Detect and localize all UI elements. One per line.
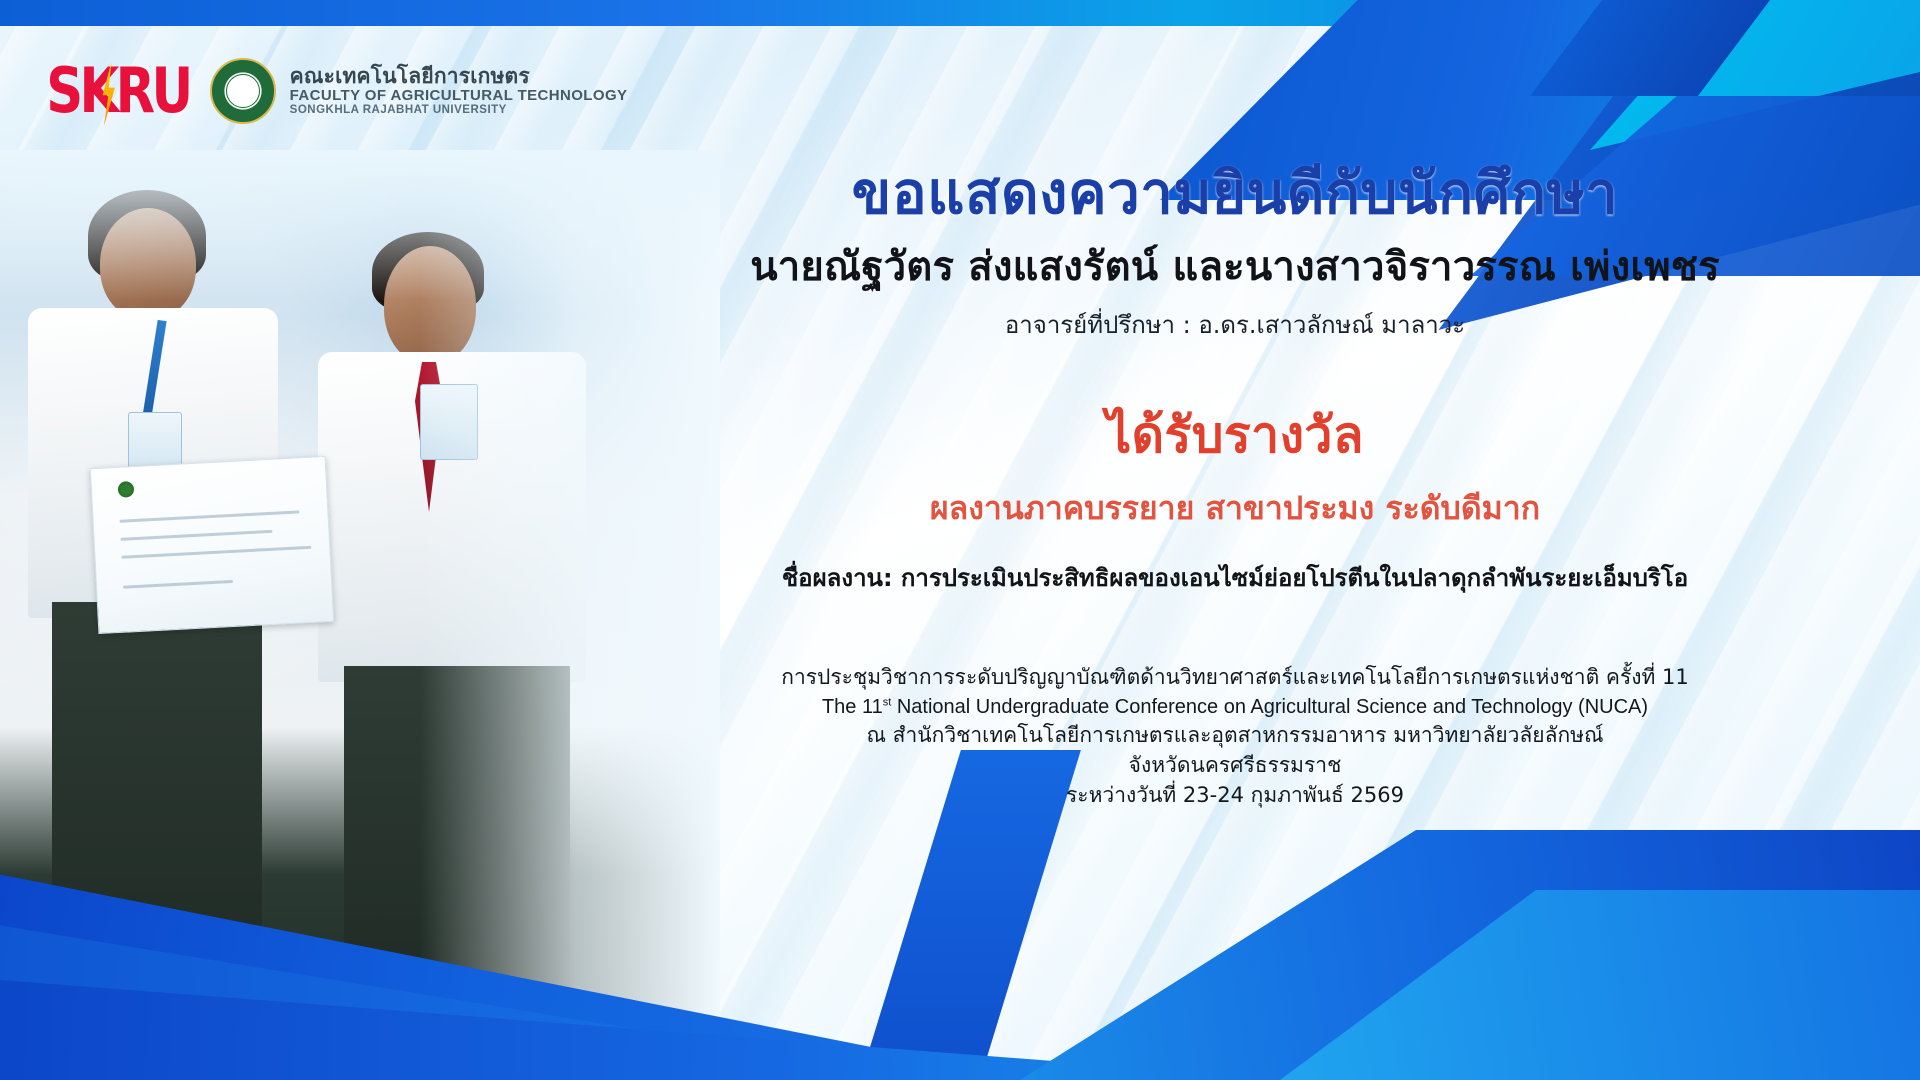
congratulations-banner: SKRU คณะเทคโนโลยีการเกษตร FACULTY OF AGR… bbox=[0, 0, 1920, 1080]
project-title: ชื่อผลงาน: การประเมินประสิทธิผลของเอนไซม… bbox=[620, 558, 1850, 597]
certificate-text-line bbox=[120, 510, 300, 522]
conference-info: การประชุมวิชาการระดับปริญญาบัณฑิตด้านวิท… bbox=[620, 663, 1850, 811]
award-ceremony-photo bbox=[0, 150, 720, 1080]
university-name-en: SONGKHLA RAJABHAT UNIVERSITY bbox=[290, 104, 628, 116]
top-blue-band bbox=[0, 0, 1920, 26]
top-right-shape-cyan bbox=[1590, 0, 1920, 150]
certificate-text-line bbox=[120, 530, 272, 541]
photo-top-fade bbox=[0, 150, 720, 300]
skru-wordmark-text: SKRU bbox=[46, 54, 189, 127]
conference-name-en: The 11st National Undergraduate Conferen… bbox=[620, 693, 1850, 721]
faculty-name-block: คณะเทคโนโลยีการเกษตร FACULTY OF AGRICULT… bbox=[290, 65, 628, 116]
conference-name-th: การประชุมวิชาการระดับปริญญาบัณฑิตด้านวิท… bbox=[620, 663, 1850, 693]
bottom-right-shape bbox=[1020, 830, 1920, 1080]
conference-province: จังหวัดนครศรีธรรมราช bbox=[620, 751, 1850, 781]
conference-venue: ณ สำนักวิชาเทคโนโลยีการเกษตรและอุตสาหกรร… bbox=[620, 721, 1850, 751]
bottom-right-shape-light bbox=[1280, 890, 1920, 1080]
conference-en-prefix: The 11 bbox=[822, 696, 883, 718]
award-detail: ผลงานภาคบรรยาย สาขาประมง ระดับดีมาก bbox=[620, 483, 1850, 534]
certificate-text-line bbox=[121, 546, 311, 559]
university-seal-icon bbox=[210, 58, 276, 124]
top-right-shape-accent bbox=[1530, 0, 1770, 96]
conference-ordinal-suffix: st bbox=[883, 696, 892, 708]
advisor-line: อาจารย์ที่ปรึกษา : อ.ดร.เสาวลักษณ์ มาลาว… bbox=[620, 305, 1850, 344]
student-names: นายณัฐวัตร ส่งแสงรัตน์ และนางสาวจิราวรรณ… bbox=[620, 243, 1850, 291]
photo-backdrop bbox=[0, 150, 720, 1080]
advisor-trousers bbox=[52, 602, 262, 1080]
conference-en-rest: National Undergraduate Conference on Agr… bbox=[891, 696, 1648, 718]
certificate-text-line bbox=[123, 580, 233, 589]
seal-inner-emblem bbox=[226, 74, 260, 108]
skru-wordmark: SKRU bbox=[46, 60, 189, 122]
faculty-name-th: คณะเทคโนโลยีการเกษตร bbox=[290, 65, 628, 88]
faculty-name-en: FACULTY OF AGRICULTURAL TECHNOLOGY bbox=[290, 88, 628, 104]
conference-date: ระหว่างวันที่ 23-24 กุมภาพันธ์ 2569 bbox=[620, 781, 1850, 811]
page-title: ขอแสดงความยินดีกับนักศึกษา bbox=[620, 160, 1850, 227]
brand-logo-row: SKRU คณะเทคโนโลยีการเกษตร FACULTY OF AGR… bbox=[40, 58, 627, 124]
certificate-document bbox=[90, 456, 334, 634]
award-title: ได้รับรางวัล bbox=[620, 396, 1850, 475]
main-content: ขอแสดงความยินดีกับนักศึกษา นายณัฐวัตร ส่… bbox=[620, 160, 1850, 810]
certificate-seal-icon bbox=[118, 481, 135, 498]
